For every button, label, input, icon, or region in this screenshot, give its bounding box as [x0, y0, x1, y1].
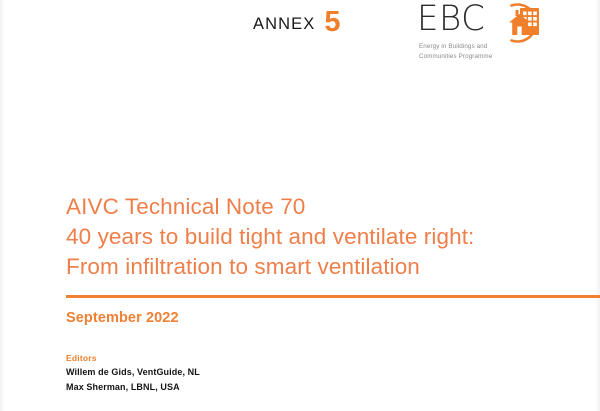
document-cover-page: ANNEX 5 EBC	[0, 0, 600, 411]
ebc-buildings-mark	[495, 1, 551, 45]
annex-heading: ANNEX 5	[253, 6, 341, 35]
annex-label: ANNEX	[253, 15, 315, 34]
title-line-1: AIVC Technical Note 70	[66, 192, 600, 222]
ebc-wordmark: EBC	[417, 0, 485, 38]
title-line-3: From infiltration to smart ventilation	[66, 252, 600, 282]
title-line-2: 40 years to build tight and ventilate ri…	[66, 222, 600, 252]
ebc-logo: EBC	[417, 2, 587, 40]
annex-number: 5	[324, 8, 340, 37]
cover-title: AIVC Technical Note 70 40 years to build…	[66, 192, 600, 282]
ebc-programme-caption: Energy in Buildings and Communities Prog…	[419, 42, 492, 61]
editors-label: Editors	[66, 352, 200, 365]
page-edge-shadow-left	[0, 0, 6, 411]
ebc-logo-row: EBC	[417, 2, 587, 40]
editor-name-1: Willem de Gids, VentGuide, NL	[66, 365, 200, 380]
editor-name-2: Max Sherman, LBNL, USA	[66, 380, 200, 395]
title-divider-rule	[66, 295, 600, 298]
publication-date: September 2022	[66, 310, 179, 326]
house-door-icon	[517, 27, 521, 36]
editors-section: Editors Willem de Gids, VentGuide, NL Ma…	[66, 352, 200, 394]
